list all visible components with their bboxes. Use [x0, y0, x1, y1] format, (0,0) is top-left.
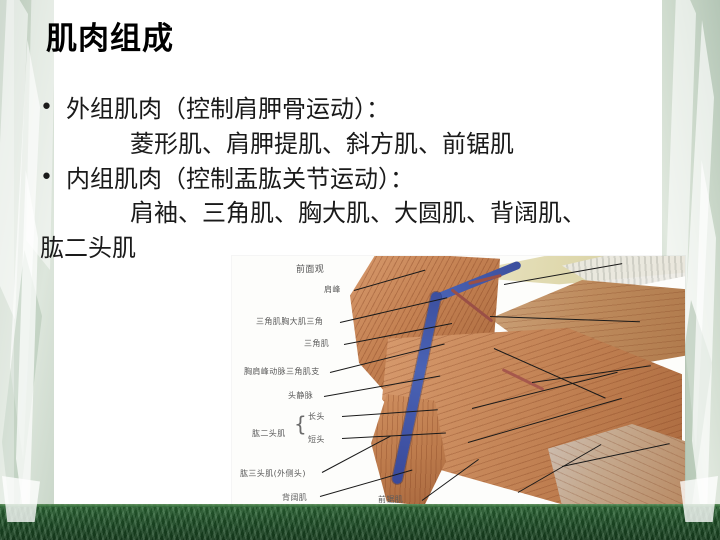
list-item-label: 肩袖、三角肌、胸大肌、大圆肌、背阔肌、 [130, 199, 586, 227]
bamboo-leaf-shape [0, 0, 14, 540]
corner-leaf-right [680, 476, 718, 522]
bottom-decorative-strip [0, 504, 720, 540]
slide-canvas: 肌肉组成 • 外组肌肉（控制肩胛骨运动）： 菱形肌、肩胛提肌、斜方肌、前锯肌 •… [0, 0, 720, 540]
anatomy-illustration: 前面观 肩峰 三角肌胸大肌三角 三角肌 胸肩峰动脉三角肌支 头静脉 肱二头肌 {… [232, 256, 685, 506]
bamboo-leaf-shape [10, 40, 40, 460]
list-item-label: 肱二头肌 [40, 234, 136, 262]
list-item: 菱形肌、肩胛提肌、斜方肌、前锯肌 [40, 127, 690, 162]
bullet-dot-icon: • [40, 92, 66, 124]
figure-view-label: 前面观 [296, 262, 324, 275]
figure-label-deltopectoral-triangle: 三角肌胸大肌三角 [256, 316, 323, 327]
list-item: • 外组肌肉（控制肩胛骨运动）： [40, 92, 690, 127]
border-left-background [0, 0, 60, 540]
decorative-border-left [0, 0, 60, 540]
figure-label-triceps-lateral-head: 肱三头肌(外侧头) [240, 468, 306, 479]
figure-label-latissimus-dorsi: 背阔肌 [282, 492, 307, 503]
figure-label-acromion: 肩峰 [324, 284, 341, 295]
anatomy-figure: 前面观 肩峰 三角肌胸大肌三角 三角肌 胸肩峰动脉三角肌支 头静脉 肱二头肌 {… [232, 256, 685, 506]
figure-label-deltoid: 三角肌 [304, 338, 329, 349]
list-item: 肩袖、三角肌、胸大肌、大圆肌、背阔肌、 [40, 196, 690, 231]
figure-label-cephalic-vein: 头静脉 [288, 390, 313, 401]
page-title: 肌肉组成 [46, 22, 174, 58]
figure-label-biceps-brachii: 肱二头肌 [252, 428, 286, 439]
bamboo-leaf-shape [0, 0, 28, 320]
bullet-dot-icon: • [40, 162, 66, 194]
brace-icon: { [294, 414, 307, 434]
figure-label-short-head: 短头 [308, 434, 325, 445]
figure-label-thoracoacromial-artery: 胸肩峰动脉三角肌支 [244, 366, 320, 377]
figure-label-long-head: 长头 [308, 411, 325, 422]
bullet-list: • 外组肌肉（控制肩胛骨运动）： 菱形肌、肩胛提肌、斜方肌、前锯肌 • 内组肌肉… [40, 92, 690, 266]
list-item-label: 内组肌肉（控制盂肱关节运动）： [66, 162, 414, 197]
list-item-label: 外组肌肉（控制肩胛骨运动）： [66, 92, 390, 127]
list-item: • 内组肌肉（控制盂肱关节运动）： [40, 162, 690, 197]
list-item-label: 菱形肌、肩胛提肌、斜方肌、前锯肌 [130, 130, 514, 158]
corner-leaf-left [2, 476, 40, 522]
